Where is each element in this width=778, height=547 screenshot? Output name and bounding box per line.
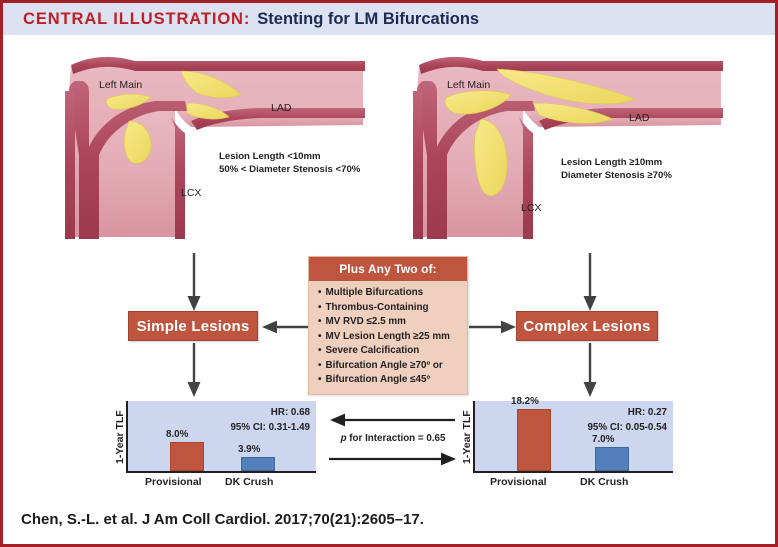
lesion-note-simple: Lesion Length <10mm 50% < Diameter Steno… <box>219 151 360 177</box>
confidence-interval: 95% CI: 0.31-1.49 <box>230 421 310 436</box>
list-item: Multiple Bifurcations <box>318 286 461 301</box>
chart-x-labels: Provisional DK Crush <box>474 476 673 494</box>
hazard-ratio: HR: 0.68 <box>230 406 310 421</box>
arrow-vessel-to-simple <box>185 253 203 313</box>
vessel-illustration-simple: Left Main LAD LCX Lesion Length <10mm 50… <box>63 47 383 247</box>
chart-y-axis-label: 1-Year TLF <box>458 401 473 473</box>
complex-lesions-label: Complex Lesions <box>523 318 650 335</box>
vessel-label-lad: LAD <box>271 102 291 114</box>
vessel-label-left-main: Left Main <box>99 79 142 91</box>
list-item: Bifurcation Angle ≥70º or <box>318 359 461 374</box>
bar-value-provisional: 18.2% <box>511 396 539 407</box>
complex-lesions-chart: 1-Year TLF 18.2% 7.0% HR: 0.27 95% CI: 0… <box>458 401 673 494</box>
criteria-header: Plus Any Two of: <box>309 257 467 281</box>
chart-plot-area: 18.2% 7.0% HR: 0.27 95% CI: 0.05-0.54 <box>473 401 673 473</box>
coronary-bifurcation-diagram-complex <box>411 47 741 247</box>
citation-text: Chen, S.-L. et al. J Am Coll Cardiol. 20… <box>21 511 424 528</box>
x-label-provisional: Provisional <box>490 476 547 488</box>
chart-statistics: HR: 0.68 95% CI: 0.31-1.49 <box>230 406 310 435</box>
chart-y-axis-label: 1-Year TLF <box>111 401 126 473</box>
bar-provisional <box>517 409 551 471</box>
confidence-interval: 95% CI: 0.05-0.54 <box>587 421 667 436</box>
list-item: Severe Calcification <box>318 344 461 359</box>
p-rest: for Interaction = 0.65 <box>347 433 446 444</box>
arrow-criteria-to-simple <box>261 319 309 335</box>
figure-header: CENTRAL ILLUSTRATION: Stenting for LM Bi… <box>3 3 775 37</box>
arrow-vessel-to-complex <box>581 253 599 313</box>
chart-plot-area: 8.0% 3.9% HR: 0.68 95% CI: 0.31-1.49 <box>126 401 316 473</box>
central-illustration-figure: CENTRAL ILLUSTRATION: Stenting for LM Bi… <box>0 0 778 547</box>
x-label-dk-crush: DK Crush <box>225 476 273 488</box>
chart-x-labels: Provisional DK Crush <box>127 476 316 494</box>
header-eyebrow: CENTRAL ILLUSTRATION: <box>23 10 250 29</box>
criteria-list: Multiple Bifurcations Thrombus-Containin… <box>309 281 467 394</box>
hazard-ratio: HR: 0.27 <box>587 406 667 421</box>
simple-lesions-chart: 1-Year TLF 8.0% 3.9% HR: 0.68 95% CI: 0.… <box>111 401 316 494</box>
vessel-illustration-complex: Left Main LAD LCX Lesion Length ≥10mm Di… <box>411 47 741 247</box>
simple-lesions-box[interactable]: Simple Lesions <box>128 311 258 341</box>
bar-provisional <box>170 442 204 471</box>
simple-lesions-label: Simple Lesions <box>137 318 250 335</box>
complex-lesions-box[interactable]: Complex Lesions <box>516 311 658 341</box>
list-item: Thrombus-Containing <box>318 301 461 316</box>
page-title: Stenting for LM Bifurcations <box>257 10 479 29</box>
bar-value-dk-crush: 3.9% <box>238 444 260 455</box>
list-item: MV Lesion Length ≥25 mm <box>318 330 461 345</box>
bar-value-dk-crush: 7.0% <box>592 434 614 445</box>
x-label-provisional: Provisional <box>145 476 202 488</box>
lesion-note-complex: Lesion Length ≥10mm Diameter Stenosis ≥7… <box>561 157 672 183</box>
bar-dk-crush <box>595 447 629 471</box>
arrow-criteria-to-complex <box>469 319 517 335</box>
vessel-label-lad: LAD <box>629 112 649 124</box>
bar-value-provisional: 8.0% <box>166 429 188 440</box>
arrow-complex-to-chart <box>581 343 599 399</box>
p-for-interaction-label: p for Interaction = 0.65 <box>329 433 457 444</box>
list-item: Bifurcation Angle ≤45º <box>318 373 461 388</box>
list-item: MV RVD ≤2.5 mm <box>318 315 461 330</box>
bar-dk-crush <box>241 457 275 471</box>
vessel-label-left-main: Left Main <box>447 79 490 91</box>
vessel-label-lcx: LCX <box>181 187 201 199</box>
chart-statistics: HR: 0.27 95% CI: 0.05-0.54 <box>587 406 667 435</box>
x-label-dk-crush: DK Crush <box>580 476 628 488</box>
arrow-simple-to-chart <box>185 343 203 399</box>
criteria-box: Plus Any Two of: Multiple Bifurcations T… <box>308 256 468 395</box>
vessel-label-lcx: LCX <box>521 202 541 214</box>
coronary-bifurcation-diagram-simple <box>63 47 383 247</box>
interaction-comparison: p for Interaction = 0.65 <box>329 411 457 473</box>
